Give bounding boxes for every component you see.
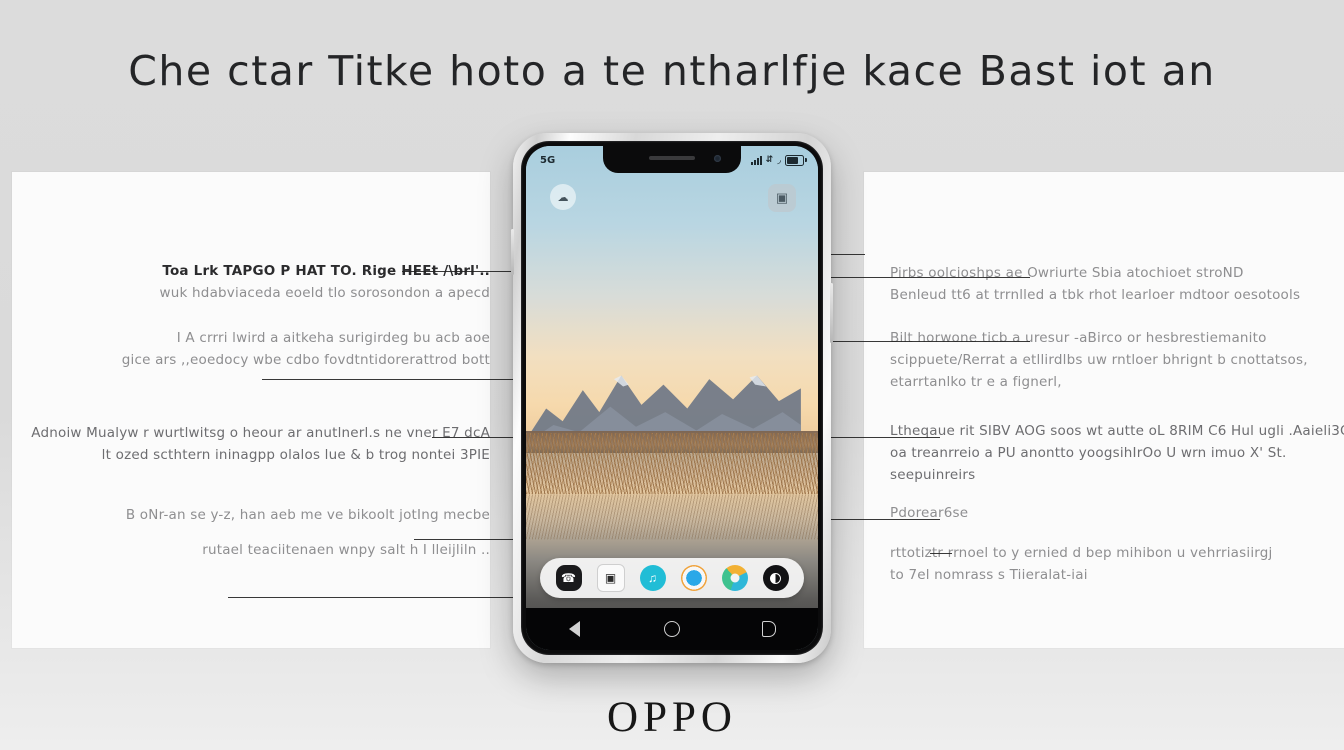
left-annotation-3: Adnoiw Mualyw r wurtlwitsg o heour ar an… [12, 422, 512, 466]
left-annotation-1: Toa Lrk TAPGO P HAT TO. Rige HEEt /\brl'… [12, 260, 512, 304]
photos-app-icon[interactable] [681, 565, 707, 591]
home-button[interactable] [663, 620, 681, 638]
left-annotation-2-line1: I A crrri lwird a aitkeha surigirdeg bu … [12, 327, 490, 349]
music-headphones-icon[interactable]: ♫ [640, 565, 666, 591]
left-annotation-5: rutael teaciitenaen wnpy salt h I lleijl… [12, 539, 512, 561]
right-annotation-2: Bilt horwone ticb a uresur -aBirco or he… [864, 327, 1344, 393]
phone-screen[interactable]: 5G ⇵ ◞ ☁ ▣ ☎ ▣ ♫ [526, 146, 818, 650]
right-annotation-5: rttotiztr rrnoel to y ernied d bep mihib… [864, 542, 1344, 586]
right-annotation-4: Pdorear6se [864, 502, 1344, 524]
phone-mockup: 5G ⇵ ◞ ☁ ▣ ☎ ▣ ♫ [513, 133, 831, 663]
right-annotation-1-line2: Benleud tt6 at trrnlled a tbk rhot learl… [890, 284, 1344, 306]
right-annotation-5-line2: to 7el nomrass s Tiieralat-iai [890, 564, 1344, 586]
left-annotation-4-line1: B oNr-an se y-z, han aeb me ve bikoolt j… [12, 504, 490, 526]
battery-icon [785, 155, 804, 166]
right-annotation-3-line1: Ltheqaue rit SIBV AOG soos wt autte oL 8… [890, 420, 1344, 442]
leader-line-r6 [930, 553, 952, 554]
right-annotation-1: Pirbs oolcioshps ae Owriurte Sbia atochi… [864, 262, 1344, 306]
right-annotation-panel: Pirbs oolcioshps ae Owriurte Sbia atochi… [864, 172, 1344, 648]
left-annotation-1-line2: wuk hdabviaceda eoeld tlo sorosondon a a… [12, 282, 490, 304]
brand-logo: OPPO [0, 693, 1344, 742]
power-key[interactable] [830, 283, 833, 343]
navigation-bar [526, 608, 818, 650]
wallpaper-reeds-reflection [526, 494, 818, 539]
signal-bars-icon [751, 156, 762, 165]
left-annotation-panel: Toa Lrk TAPGO P HAT TO. Rige HEEt /\brl'… [12, 172, 490, 648]
app-dock: ☎ ▣ ♫ [540, 558, 804, 598]
right-annotation-4-line1: Pdorear6se [890, 502, 1344, 524]
right-annotation-2-line1: Bilt horwone ticb a uresur -aBirco or he… [890, 327, 1344, 349]
settings-app-icon[interactable] [763, 565, 789, 591]
page-title: Che ctar Titke hoto a te ntharlfje kace … [0, 47, 1344, 95]
left-annotation-3-line2: lt ozed scthtern ininagpp olalos lue & b… [12, 444, 490, 466]
status-bar: 5G ⇵ ◞ [526, 150, 818, 170]
right-annotation-3-line2: oa treanrreio a PU anontto yoogsihIrOo U… [890, 442, 1344, 486]
recents-button[interactable] [760, 620, 778, 638]
wifi-icon: ◞ [777, 155, 781, 166]
browser-chrome-icon[interactable] [722, 565, 748, 591]
left-annotation-2: I A crrri lwird a aitkeha surigirdeg bu … [12, 327, 512, 371]
phone-dialer-icon[interactable]: ☎ [556, 565, 582, 591]
network-label: 5G [540, 155, 555, 166]
wallpaper-reeds [526, 433, 818, 493]
poster-canvas: Che ctar Titke hoto a te ntharlfje kace … [0, 0, 1344, 750]
right-annotation-1-line1: Pirbs oolcioshps ae Owriurte Sbia atochi… [890, 262, 1344, 284]
left-annotation-3-line1: Adnoiw Mualyw r wurtlwitsg o heour ar an… [12, 422, 490, 444]
weather-cloud-icon[interactable]: ☁ [550, 184, 576, 210]
volume-key[interactable] [511, 229, 514, 275]
mobile-data-icon: ⇵ [766, 155, 774, 165]
phone-bezel: 5G ⇵ ◞ ☁ ▣ ☎ ▣ ♫ [521, 141, 823, 655]
right-annotation-2-line3: etarrtanlko tr e a fignerl, [890, 371, 1344, 393]
right-annotation-5-line1: rttotiztr rrnoel to y ernied d bep mihib… [890, 542, 1344, 564]
left-annotation-2-line2: gice ars ,,eoedocy wbe cdbo fovdtntidore… [12, 349, 490, 371]
back-button[interactable] [566, 620, 584, 638]
right-annotation-2-line2: scippuete/Rerrat a etllirdlbs uw rntloer… [890, 349, 1344, 371]
camera-app-icon[interactable]: ▣ [597, 564, 625, 592]
left-annotation-5-line1: rutael teaciitenaen wnpy salt h I lleijl… [12, 539, 490, 561]
leader-line-r4 [818, 437, 940, 438]
left-annotation-4: B oNr-an se y-z, han aeb me ve bikoolt j… [12, 504, 512, 526]
right-annotation-3: Ltheqaue rit SIBV AOG soos wt autte oL 8… [864, 420, 1344, 486]
gallery-app-icon[interactable]: ▣ [768, 184, 796, 212]
